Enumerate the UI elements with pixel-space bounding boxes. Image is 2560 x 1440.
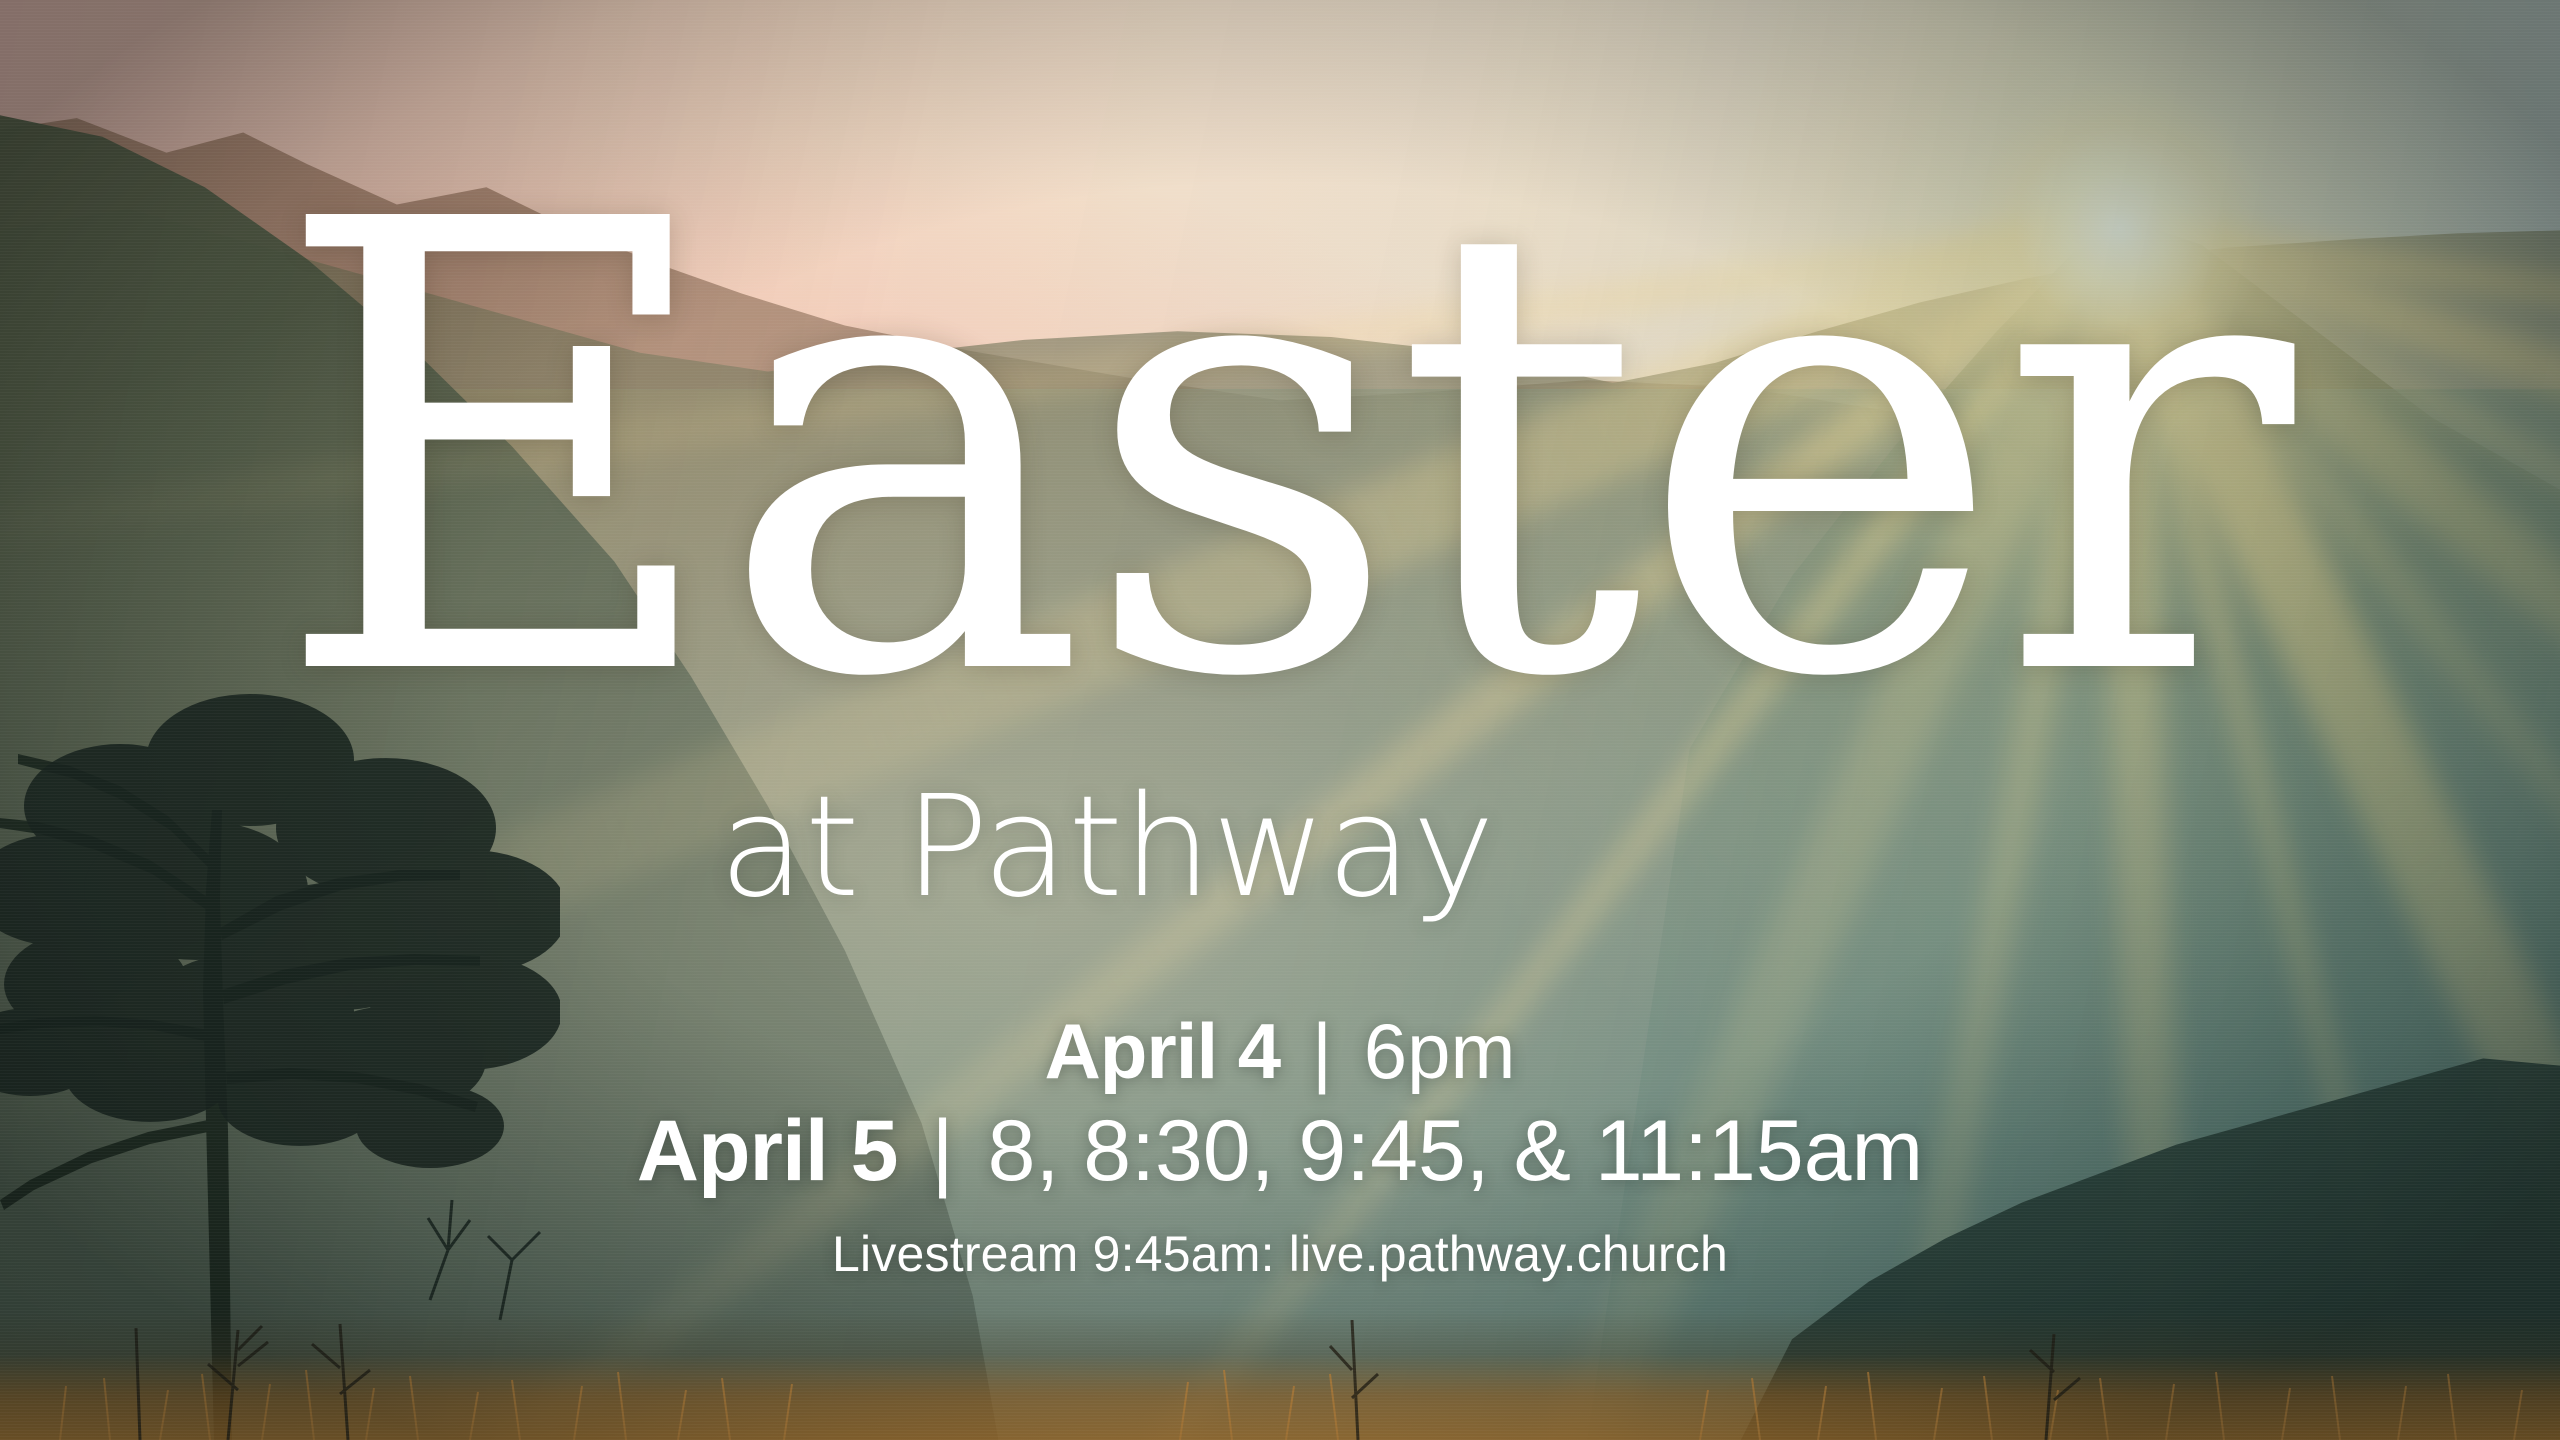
schedule-separator-2: | [921,1103,963,1199]
schedule-separator-1: | [1302,1007,1342,1095]
schedule-date-1: April 4 [1044,1007,1280,1095]
schedule-times-2: 8, 8:30, 9:45, & 11:15am [988,1103,1924,1199]
page-title: Easter [0,168,2560,738]
schedule-row-april-4: April 4 | 6pm [0,1012,2560,1092]
schedule-times-1: 6pm [1364,1007,1516,1095]
page-subtitle: at Pathway [0,778,2560,918]
livestream-info[interactable]: Livestream 9:45am: live.pathway.church [0,1225,2560,1283]
easter-promo-graphic: Easter at Pathway April 4 | 6pm April 5 … [0,0,2560,1440]
service-schedule: April 4 | 6pm April 5 | 8, 8:30, 9:45, &… [0,1012,2560,1283]
schedule-row-april-5: April 5 | 8, 8:30, 9:45, & 11:15am [0,1108,2560,1196]
text-overlay: Easter at Pathway April 4 | 6pm April 5 … [0,0,2560,1440]
schedule-date-2: April 5 [637,1103,898,1199]
